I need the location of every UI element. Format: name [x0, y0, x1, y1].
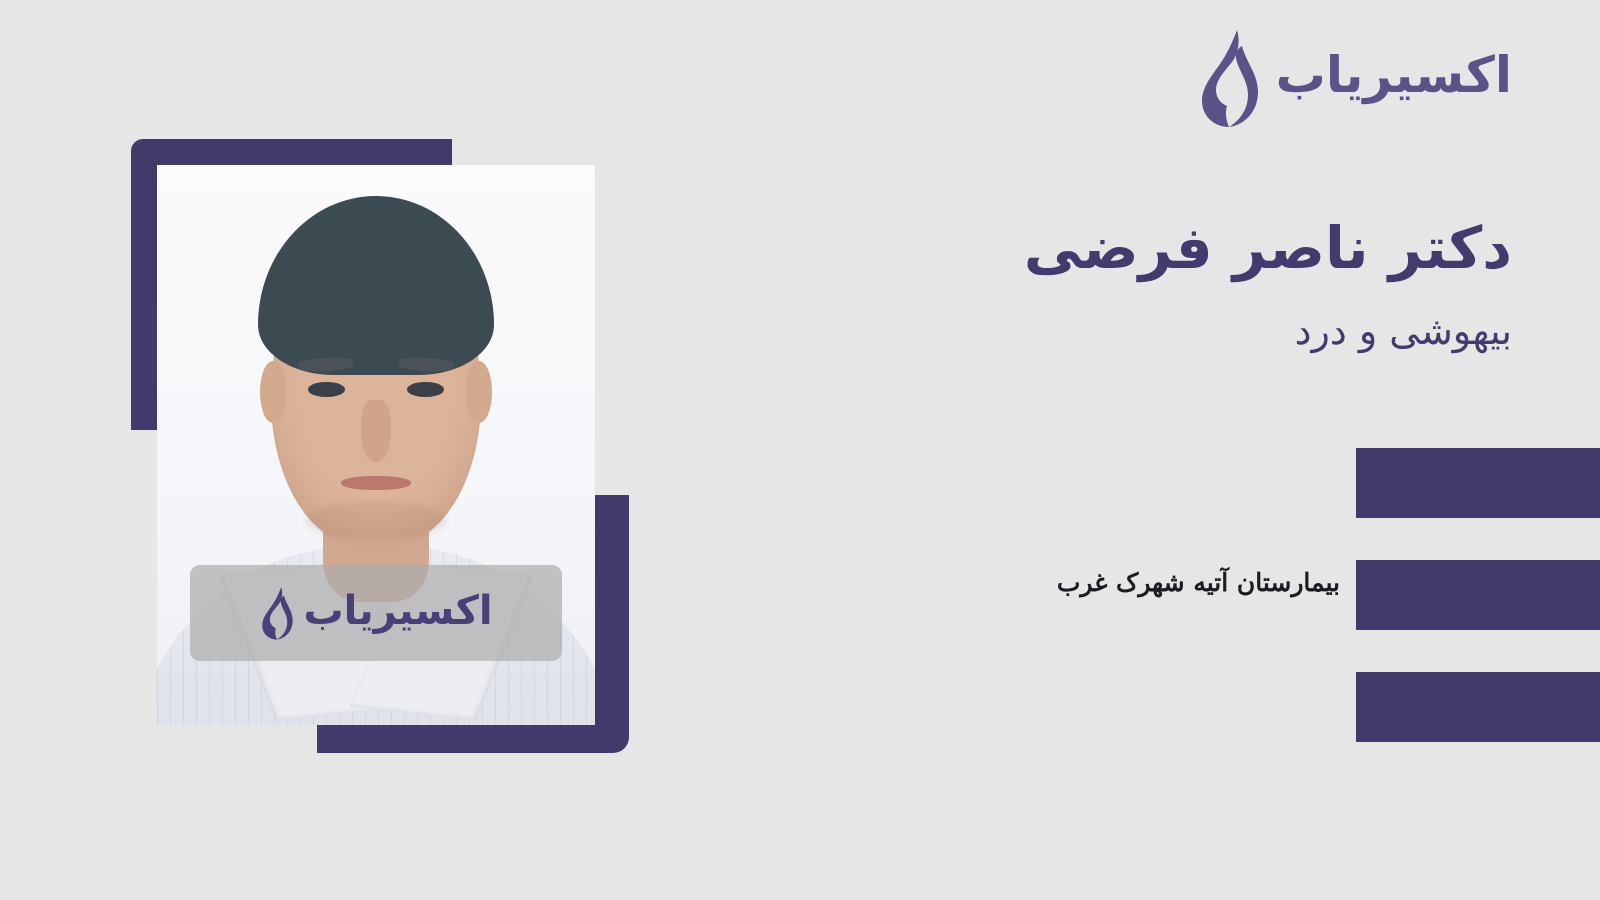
- portrait-nose: [361, 400, 392, 462]
- doctor-specialty: بیهوشی و درد: [872, 307, 1512, 356]
- portrait-eye-right: [407, 382, 444, 397]
- portrait-ear-left: [260, 361, 286, 423]
- accent-bar-2: [1356, 560, 1600, 630]
- accent-bar-3: [1356, 672, 1600, 742]
- flame-icon: [259, 585, 297, 641]
- photo-composition: اکسیریاب: [131, 139, 631, 754]
- doctor-photo: اکسیریاب: [157, 165, 595, 725]
- portrait-mouth: [341, 476, 411, 491]
- hospital-name: بیمارستان آتیه شهرک غرب: [1057, 568, 1340, 597]
- portrait-hair: [258, 196, 495, 375]
- doctor-info-block: دکتر ناصر فرضی بیهوشی و درد: [872, 212, 1512, 356]
- portrait-eye-left: [308, 382, 345, 397]
- accent-bars: [1356, 448, 1600, 742]
- portrait-ear-right: [466, 361, 492, 423]
- brand-wordmark: اکسیریاب: [1276, 50, 1512, 106]
- portrait-chin-shadow: [306, 501, 446, 540]
- brand-logo[interactable]: اکسیریاب: [1196, 26, 1512, 130]
- watermark-wordmark: اکسیریاب: [303, 591, 492, 635]
- doctor-name: دکتر ناصر فرضی: [872, 212, 1512, 285]
- accent-bar-1: [1356, 448, 1600, 518]
- photo-watermark: اکسیریاب: [190, 565, 562, 660]
- doctor-profile-card: اکسیریاب: [0, 0, 1600, 900]
- flame-icon: [1196, 28, 1266, 128]
